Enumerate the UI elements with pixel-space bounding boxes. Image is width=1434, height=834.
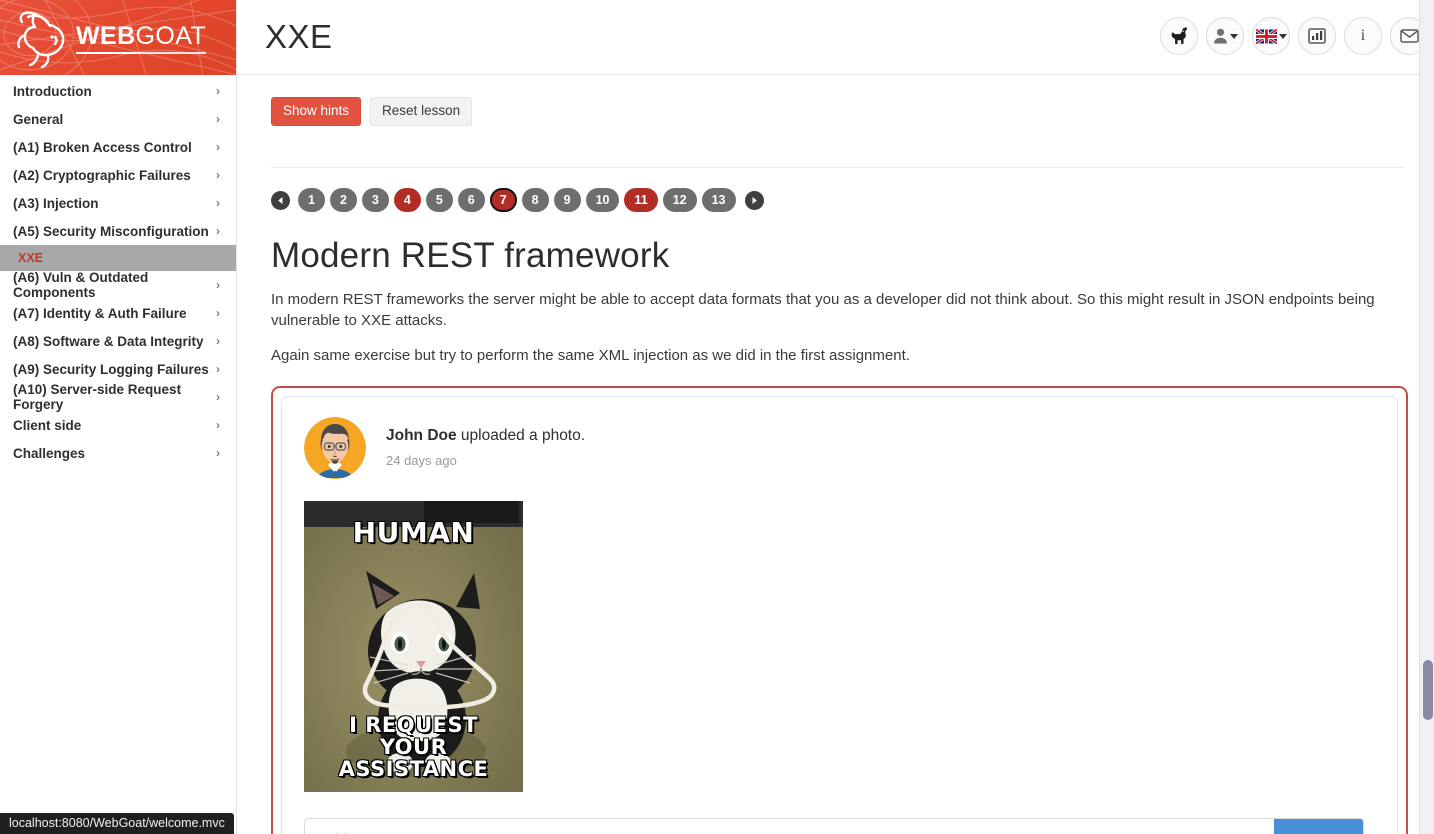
sidebar-item-label: (A9) Security Logging Failures bbox=[13, 362, 209, 377]
user-icon bbox=[1213, 28, 1228, 44]
meme-top-text: HUMAN bbox=[304, 518, 523, 547]
sidebar-item-label: (A2) Cryptographic Failures bbox=[13, 168, 191, 183]
sidebar-item-label: (A8) Software & Data Integrity bbox=[13, 334, 204, 349]
post-author: John Doe bbox=[386, 427, 457, 444]
page-button-11[interactable]: 11 bbox=[624, 188, 657, 212]
avatar bbox=[304, 417, 366, 479]
meme-bottom-text: I REQUEST YOUR ASSISTANCE bbox=[304, 714, 523, 780]
lesson-assignment-card: John Doe uploaded a photo. 24 days ago bbox=[271, 386, 1408, 834]
goat-button[interactable] bbox=[1160, 17, 1198, 55]
lesson-heading: Modern REST framework bbox=[271, 236, 1404, 276]
submit-comment-button[interactable]: Submit bbox=[1274, 819, 1363, 834]
page-button-10[interactable]: 10 bbox=[586, 188, 620, 212]
post-meta: John Doe uploaded a photo. 24 days ago bbox=[386, 417, 585, 468]
chart-icon bbox=[1308, 28, 1326, 44]
status-bar-url: localhost:8080/WebGoat/welcome.mvc bbox=[0, 813, 234, 834]
meme-bottom-line-2: ASSISTANCE bbox=[312, 758, 515, 780]
post-timestamp: 24 days ago bbox=[386, 453, 585, 468]
chevron-right-icon: › bbox=[216, 362, 223, 376]
flag-uk-icon bbox=[1256, 29, 1277, 44]
sidebar-item-label: (A3) Injection bbox=[13, 196, 99, 211]
goat-head-icon bbox=[8, 6, 74, 70]
page-button-8[interactable]: 8 bbox=[522, 188, 549, 212]
chevron-right-icon: › bbox=[216, 168, 223, 182]
brand-header[interactable]: WEBGOAT bbox=[0, 0, 236, 75]
language-menu-button[interactable] bbox=[1252, 17, 1290, 55]
sidebar-item-label: (A7) Identity & Auth Failure bbox=[13, 306, 187, 321]
sidebar-item-label: (A1) Broken Access Control bbox=[13, 140, 192, 155]
lesson-controls: Show hints Reset lesson bbox=[271, 97, 1404, 126]
lesson-pagination: 1 2 3 4 5 6 7 8 9 10 11 12 13 bbox=[271, 188, 1404, 212]
page-scrollbar[interactable] bbox=[1419, 0, 1434, 834]
post-action: uploaded a photo. bbox=[457, 427, 585, 444]
sidebar-item-xxe[interactable]: XXE bbox=[0, 245, 236, 271]
page-button-6[interactable]: 6 bbox=[458, 188, 485, 212]
info-icon: i bbox=[1361, 27, 1365, 45]
sidebar-item-a1-broken-access-control[interactable]: (A1) Broken Access Control › bbox=[0, 133, 236, 161]
sidebar-sub-label: XXE bbox=[18, 251, 43, 265]
chevron-right-icon: › bbox=[216, 306, 223, 320]
page-button-4[interactable]: 4 bbox=[394, 188, 421, 212]
top-bar: XXE bbox=[237, 0, 1434, 75]
chevron-right-icon: › bbox=[216, 196, 223, 210]
page-button-2[interactable]: 2 bbox=[330, 188, 357, 212]
sidebar-item-label: Introduction bbox=[13, 84, 92, 99]
page-button-12[interactable]: 12 bbox=[663, 188, 697, 212]
chevron-right-icon: › bbox=[216, 140, 223, 154]
sidebar-item-label: (A6) Vuln & Outdated Components bbox=[13, 270, 216, 300]
chevron-down-icon bbox=[1279, 34, 1287, 39]
sidebar-item-label: (A10) Server-side Request Forgery bbox=[13, 382, 216, 412]
statistics-button[interactable] bbox=[1298, 17, 1336, 55]
sidebar-item-label: General bbox=[13, 112, 63, 127]
chevron-right-icon: › bbox=[216, 446, 223, 460]
reset-lesson-button[interactable]: Reset lesson bbox=[370, 97, 472, 126]
sidebar-item-introduction[interactable]: Introduction › bbox=[0, 77, 236, 105]
lesson-paragraph-2: Again same exercise but try to perform t… bbox=[271, 345, 1404, 366]
page-button-7[interactable]: 7 bbox=[490, 188, 517, 212]
sidebar-item-general[interactable]: General › bbox=[0, 105, 236, 133]
pagination-prev-button[interactable] bbox=[271, 191, 290, 210]
chevron-down-icon bbox=[1230, 34, 1238, 39]
show-hints-button[interactable]: Show hints bbox=[271, 97, 361, 126]
page-button-1[interactable]: 1 bbox=[298, 188, 325, 212]
chevron-right-icon: › bbox=[216, 278, 223, 292]
main-area: XXE bbox=[237, 0, 1434, 834]
post-image: HUMAN I REQUEST YOUR ASSISTANCE bbox=[304, 501, 523, 792]
sidebar-item-a8-software-data-integrity[interactable]: (A8) Software & Data Integrity › bbox=[0, 327, 236, 355]
page-button-13[interactable]: 13 bbox=[702, 188, 736, 212]
page-button-5[interactable]: 5 bbox=[426, 188, 453, 212]
meme-bottom-line-1: I REQUEST YOUR bbox=[312, 714, 515, 758]
chevron-right-icon: › bbox=[216, 224, 223, 238]
user-menu-button[interactable] bbox=[1206, 17, 1244, 55]
sidebar-item-a5-security-misconfiguration[interactable]: (A5) Security Misconfiguration › bbox=[0, 217, 236, 245]
sidebar-nav: Introduction › General › (A1) Broken Acc… bbox=[0, 75, 236, 467]
sidebar-item-client-side[interactable]: Client side › bbox=[0, 411, 236, 439]
brand-web-text: WEB bbox=[76, 22, 136, 54]
lesson-content: Show hints Reset lesson 1 2 3 4 5 6 bbox=[237, 75, 1434, 834]
about-button[interactable]: i bbox=[1344, 17, 1382, 55]
sidebar-item-label: Challenges bbox=[13, 446, 85, 461]
scrollbar-thumb[interactable] bbox=[1423, 660, 1433, 720]
sidebar: WEBGOAT Introduction › General › (A1) Br… bbox=[0, 0, 237, 834]
sidebar-item-challenges[interactable]: Challenges › bbox=[0, 439, 236, 467]
lesson-content-inner: Show hints Reset lesson 1 2 3 4 5 6 bbox=[237, 97, 1434, 366]
sidebar-item-a9-security-logging-failures[interactable]: (A9) Security Logging Failures › bbox=[0, 355, 236, 383]
arrow-left-icon bbox=[276, 196, 285, 205]
sidebar-item-label: (A5) Security Misconfiguration bbox=[13, 224, 209, 239]
chevron-right-icon: › bbox=[216, 418, 223, 432]
chevron-right-icon: › bbox=[216, 334, 223, 348]
sidebar-item-a10-server-side-request-forgery[interactable]: (A10) Server-side Request Forgery › bbox=[0, 383, 236, 411]
page-title: XXE bbox=[265, 18, 333, 56]
brand-title: WEBGOAT bbox=[76, 24, 206, 52]
sidebar-item-a2-cryptographic-failures[interactable]: (A2) Cryptographic Failures › bbox=[0, 161, 236, 189]
sidebar-item-a3-injection[interactable]: (A3) Injection › bbox=[0, 189, 236, 217]
top-toolbar: i bbox=[1160, 17, 1428, 55]
pagination-next-button[interactable] bbox=[745, 191, 764, 210]
sidebar-item-a7-identity-auth-failure[interactable]: (A7) Identity & Auth Failure › bbox=[0, 299, 236, 327]
comment-input[interactable] bbox=[305, 819, 1274, 834]
chevron-right-icon: › bbox=[216, 84, 223, 98]
comment-form: Submit bbox=[304, 818, 1364, 834]
mail-icon bbox=[1400, 29, 1419, 43]
page-button-3[interactable]: 3 bbox=[362, 188, 389, 212]
webgoat-app: WEBGOAT Introduction › General › (A1) Br… bbox=[0, 0, 1434, 834]
brand-goat-text: GOAT bbox=[136, 22, 207, 54]
sidebar-item-a6-vuln-outdated-components[interactable]: (A6) Vuln & Outdated Components › bbox=[0, 271, 236, 299]
post-title: John Doe uploaded a photo. bbox=[386, 427, 585, 445]
social-post-panel: John Doe uploaded a photo. 24 days ago bbox=[281, 396, 1398, 834]
sidebar-item-label: Client side bbox=[13, 418, 81, 433]
chevron-right-icon: › bbox=[216, 390, 223, 404]
post-header: John Doe uploaded a photo. 24 days ago bbox=[304, 417, 1375, 479]
arrow-right-icon bbox=[750, 196, 759, 205]
chevron-right-icon: › bbox=[216, 112, 223, 126]
page-button-9[interactable]: 9 bbox=[554, 188, 581, 212]
lesson-paragraph-1: In modern REST frameworks the server mig… bbox=[271, 289, 1404, 332]
goat-icon bbox=[1169, 27, 1189, 45]
hint-panel bbox=[271, 136, 1404, 168]
avatar-icon bbox=[304, 417, 366, 479]
